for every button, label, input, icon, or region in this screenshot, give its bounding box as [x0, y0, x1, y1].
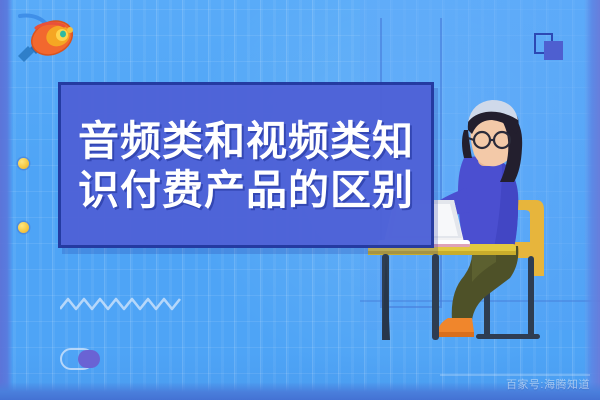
right-edge-band	[584, 0, 600, 400]
yellow-dot-icon	[18, 222, 29, 233]
left-edge-band	[0, 0, 13, 400]
page-title: 音频类和视频类知 识付费产品的区别	[66, 96, 426, 236]
yellow-dot-icon	[18, 158, 29, 169]
pill-decoration-group	[60, 348, 116, 370]
title-line-1: 音频类和视频类知	[78, 117, 414, 166]
zigzag-decoration-icon	[60, 296, 184, 313]
pill-solid-icon	[78, 350, 100, 368]
megaphone-icon	[16, 12, 78, 70]
title-line-2: 识付费产品的区别	[78, 166, 414, 215]
poster-canvas: 音频类和视频类知 识付费产品的区别 百家号:海腾知道	[0, 0, 600, 400]
watermark-text: 百家号:海腾知道	[506, 376, 590, 392]
square-filled-icon	[544, 41, 563, 60]
